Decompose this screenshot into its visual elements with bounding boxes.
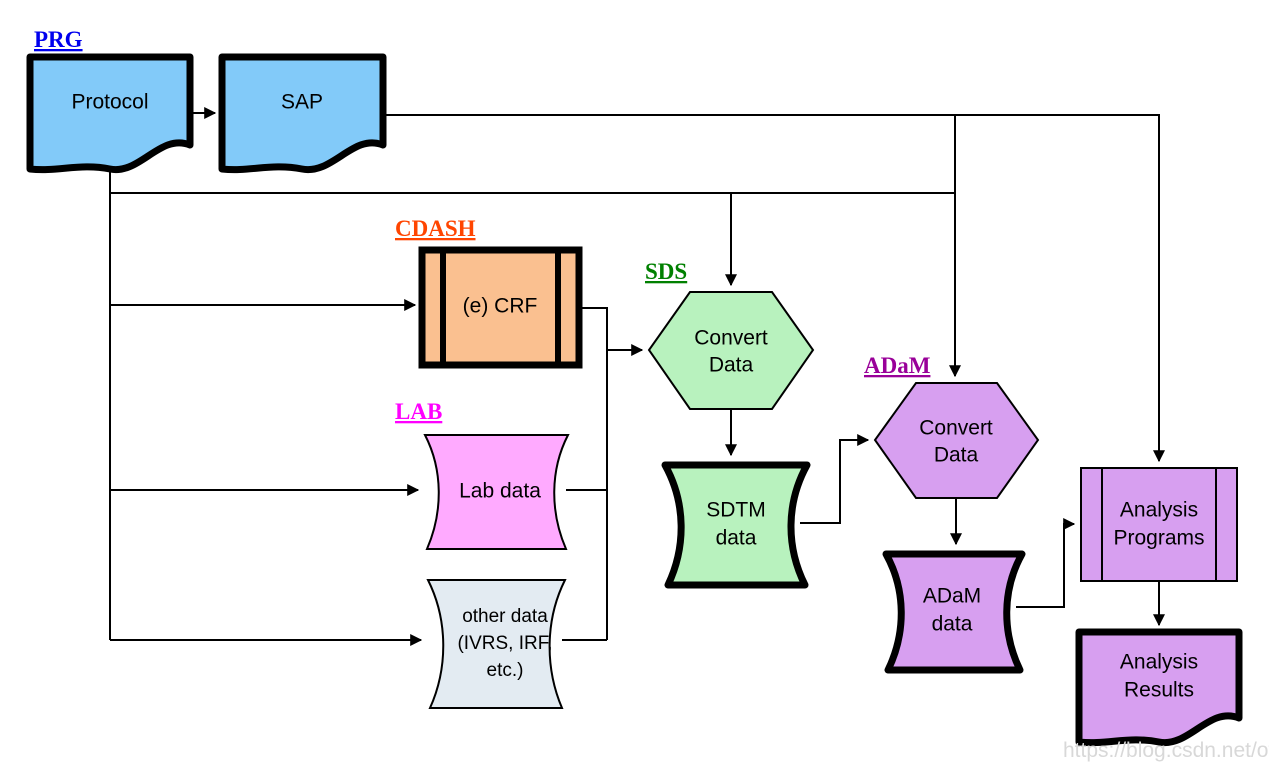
analysis-results-label-line2: Results — [1124, 679, 1194, 702]
node-sap[interactable]: SAP — [222, 57, 383, 170]
group-label-sds: SDS — [645, 259, 687, 284]
node-analysis-results[interactable]: Analysis Results — [1079, 632, 1239, 743]
group-label-prg: PRG — [34, 27, 83, 52]
other-data-label-line2: (IVRS, IRF, — [457, 633, 552, 654]
node-adam-data[interactable]: ADaM data — [886, 554, 1022, 670]
lab-data-label: Lab data — [459, 480, 541, 503]
watermark-text: https://blog.csdn.net/ofoliao — [1063, 739, 1269, 762]
adam-convert-label-line1: Convert — [919, 417, 993, 440]
sdtm-data-shape — [665, 465, 807, 585]
node-analysis-programs[interactable]: Analysis Programs — [1081, 468, 1237, 581]
sds-convert-label-line1: Convert — [694, 327, 768, 350]
adam-convert-label-line2: Data — [934, 444, 979, 467]
connector-ecrf-to-sds-convert — [579, 308, 642, 350]
node-adam-convert[interactable]: Convert Data — [875, 383, 1038, 498]
analysis-results-label-line1: Analysis — [1120, 651, 1198, 674]
protocol-label: Protocol — [71, 91, 148, 114]
group-label-adam: ADaM — [864, 353, 931, 378]
node-lab-data[interactable]: Lab data — [425, 435, 568, 549]
group-label-cdash: CDASH — [395, 216, 476, 241]
flowchart-svg: Protocol SAP (e) CRF Lab data other data… — [0, 0, 1269, 767]
node-ecrf[interactable]: (e) CRF — [422, 250, 579, 365]
node-other-data[interactable]: other data (IVRS, IRF, etc.) — [428, 580, 565, 708]
connector-sdtm-data-to-adam-convert — [800, 440, 868, 523]
sap-label: SAP — [281, 91, 323, 114]
other-data-label-line1: other data — [462, 606, 548, 627]
analysis-programs-label-line2: Programs — [1113, 527, 1204, 550]
ecrf-label: (e) CRF — [463, 295, 538, 318]
sds-convert-label-line2: Data — [709, 354, 754, 377]
node-protocol[interactable]: Protocol — [30, 57, 190, 170]
flowchart-canvas: Protocol SAP (e) CRF Lab data other data… — [0, 0, 1269, 767]
sdtm-data-label-line2: data — [716, 527, 757, 550]
analysis-programs-label-line1: Analysis — [1120, 499, 1198, 522]
sds-convert-shape — [649, 292, 813, 409]
group-label-lab: LAB — [395, 399, 442, 424]
node-sds-convert[interactable]: Convert Data — [649, 292, 813, 409]
adam-data-label-line1: ADaM — [923, 585, 981, 608]
adam-data-label-line2: data — [932, 613, 973, 636]
node-sdtm-data[interactable]: SDTM data — [665, 465, 807, 585]
connector-adam-data-to-analysis-programs — [1016, 524, 1074, 607]
sdtm-data-label-line1: SDTM — [706, 499, 766, 522]
adam-convert-shape — [875, 383, 1038, 498]
other-data-label-line3: etc.) — [487, 660, 524, 681]
analysis-programs-shape — [1081, 468, 1237, 581]
